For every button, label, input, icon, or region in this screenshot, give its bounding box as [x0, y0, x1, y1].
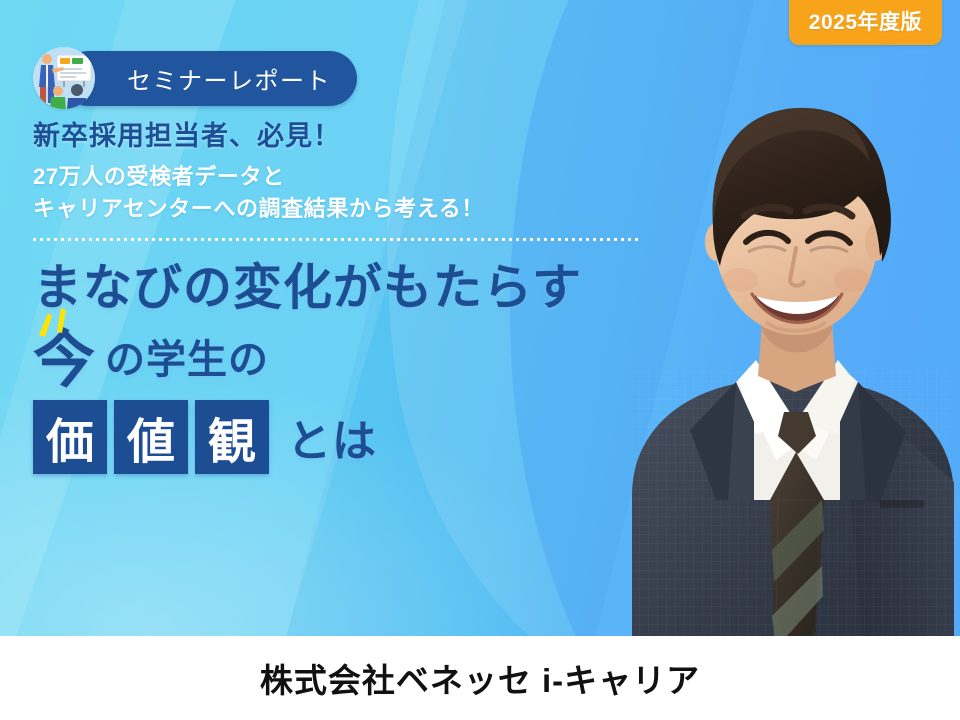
seminar-report-tag: セミナーレポート [33, 47, 357, 109]
sub-line-2: キャリアセンターへの調査結果から考える！ [33, 193, 641, 225]
main-line-2-rest: の学生の [95, 327, 269, 391]
headline-block: 新卒採用担当者、必見！ 27万人の受検者データと キャリアセンターへの調査結果か… [33, 120, 641, 474]
boxed-char-2: 値 [114, 400, 188, 474]
year-badge: 2025年度版 [789, 0, 942, 45]
sub-line-1: 27万人の受検者データと [33, 161, 641, 193]
main-line-3: 価 値 観 とは [33, 400, 641, 474]
emphasis-char-ima: 今 [33, 332, 95, 391]
seminar-presentation-icon [33, 47, 95, 109]
seminar-report-poster: 2025年度版 [0, 0, 960, 720]
company-logo-text: 株式会社ベネッセ i-キャリア [260, 654, 700, 702]
boxed-char-1: 価 [33, 400, 107, 474]
year-badge-label: 2025年度版 [809, 11, 922, 34]
main-line-2: 今 の学生の [33, 327, 641, 391]
boxed-char-3: 観 [195, 400, 269, 474]
footer-bar: 株式会社ベネッセ i-キャリア [0, 636, 960, 720]
main-tail-text: とは [287, 405, 377, 469]
seminar-report-pill: セミナーレポート [61, 51, 357, 106]
main-line-1: まなびの変化がもたらす [33, 263, 641, 314]
dotted-divider [33, 238, 641, 241]
sparkle-icon [35, 305, 81, 339]
seminar-report-label: セミナーレポート [127, 61, 331, 96]
eyebrow-text: 新卒採用担当者、必見！ [33, 120, 641, 152]
